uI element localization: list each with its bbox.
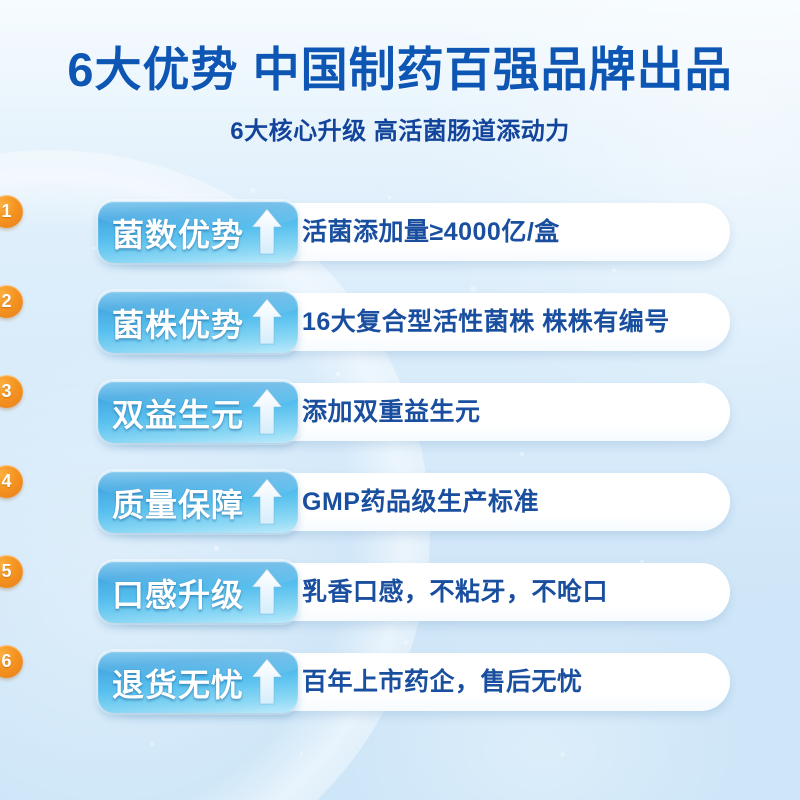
- feature-row: 退货无忧 6 百年上市药企，售后无忧: [0, 653, 800, 743]
- feature-row: 菌数优势 1 活菌添加量≥4000亿/盒: [0, 203, 800, 293]
- feature-label: 菌数优势: [112, 210, 244, 256]
- feature-index: 5: [0, 555, 23, 588]
- up-arrow-icon: [250, 207, 284, 257]
- feature-index-badge: 4: [0, 465, 23, 498]
- up-arrow-icon: [250, 657, 284, 707]
- feature-description: 乳香口感，不粘牙，不呛口: [302, 563, 608, 621]
- feature-list: 菌数优势 1 活菌添加量≥4000亿/盒 菌株优势 2: [0, 203, 800, 743]
- up-arrow-icon: [250, 567, 284, 617]
- feature-pill: 菌数优势: [98, 201, 298, 263]
- feature-pill: 质量保障: [98, 471, 298, 533]
- up-arrow-icon: [250, 297, 284, 347]
- feature-pill: 双益生元: [98, 381, 298, 443]
- feature-index-badge: 1: [0, 195, 23, 228]
- feature-pill: 菌株优势: [98, 291, 298, 353]
- feature-pill: 退货无忧: [98, 651, 298, 713]
- feature-index: 2: [0, 285, 23, 318]
- feature-index: 4: [0, 465, 23, 498]
- feature-description: 16大复合型活性菌株 株株有编号: [302, 293, 670, 351]
- up-arrow-icon: [250, 477, 284, 527]
- feature-label: 口感升级: [112, 570, 244, 616]
- feature-pill: 口感升级: [98, 561, 298, 623]
- up-arrow-icon: [250, 387, 284, 437]
- page-title: 6大优势 中国制药百强品牌出品: [0, 44, 800, 96]
- feature-index: 3: [0, 375, 23, 408]
- feature-row: 双益生元 3 添加双重益生元: [0, 383, 800, 473]
- feature-label: 菌株优势: [112, 300, 244, 346]
- page-subtitle: 6大核心升级 高活菌肠道添动力: [0, 111, 800, 146]
- poster-header: 6大优势 中国制药百强品牌出品 6大核心升级 高活菌肠道添动力: [0, 0, 800, 146]
- feature-row: 质量保障 4 GMP药品级生产标准: [0, 473, 800, 563]
- feature-label: 双益生元: [112, 390, 244, 436]
- feature-index-badge: 6: [0, 645, 23, 678]
- feature-description: 活菌添加量≥4000亿/盒: [302, 203, 560, 261]
- feature-row: 菌株优势 2 16大复合型活性菌株 株株有编号: [0, 293, 800, 383]
- feature-label: 质量保障: [112, 480, 244, 526]
- feature-index-badge: 5: [0, 555, 23, 588]
- feature-index-badge: 3: [0, 375, 23, 408]
- feature-label: 退货无忧: [112, 660, 244, 706]
- feature-index: 6: [0, 645, 23, 678]
- feature-description: 添加双重益生元: [302, 383, 481, 441]
- feature-row: 口感升级 5 乳香口感，不粘牙，不呛口: [0, 563, 800, 653]
- feature-index: 1: [0, 195, 23, 228]
- promo-poster: 6大优势 中国制药百强品牌出品 6大核心升级 高活菌肠道添动力 菌数优势 1 活…: [0, 0, 800, 800]
- feature-description: 百年上市药企，售后无忧: [302, 653, 583, 711]
- feature-index-badge: 2: [0, 285, 23, 318]
- feature-description: GMP药品级生产标准: [302, 473, 539, 531]
